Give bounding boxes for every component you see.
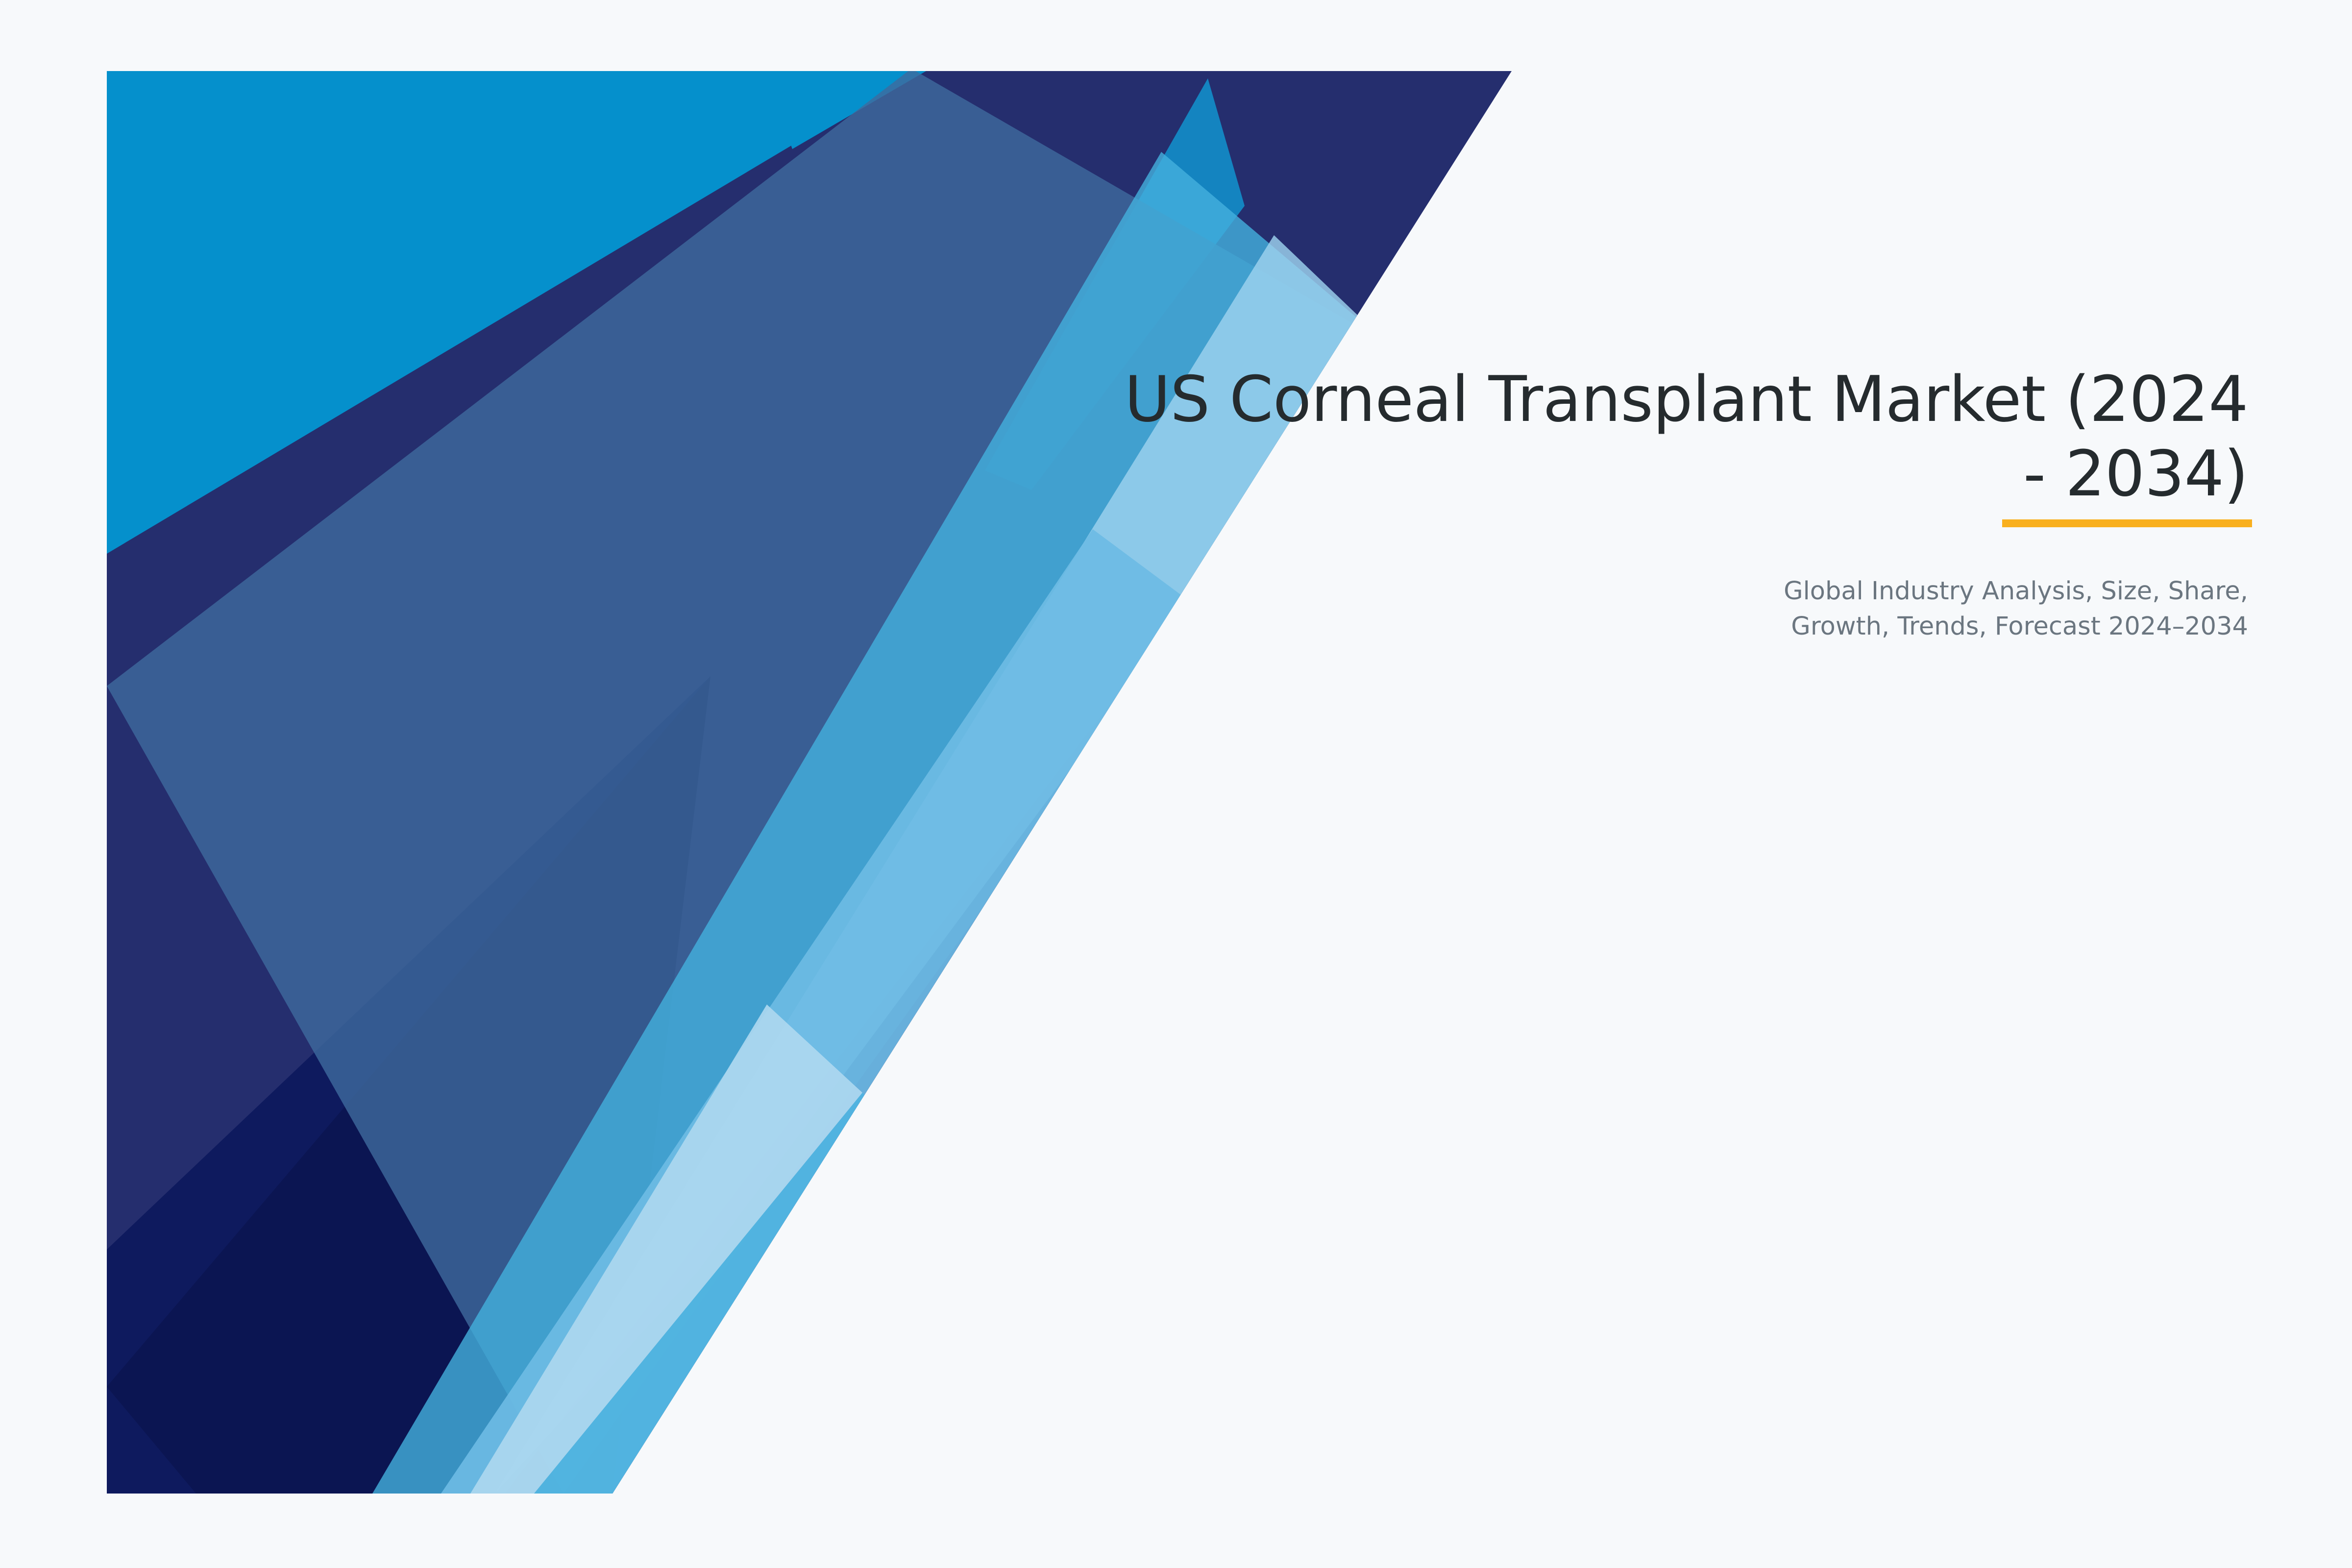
page-subtitle: Global Industry Analysis, Size, Share, G… xyxy=(1043,512,2248,645)
shape-light-blue-band xyxy=(441,529,1303,1494)
shape-dark-navy-sweep xyxy=(107,676,710,1494)
shape-deep-navy-wedge xyxy=(107,71,1274,1494)
shape-slate-parallelogram xyxy=(107,69,1387,1494)
shape-navy-field xyxy=(107,71,1512,1494)
shape-dark-navy-lower xyxy=(107,676,710,1494)
title-slide: US Corneal Transplant Market (2024 - 203… xyxy=(0,0,2352,1568)
shape-cyan-diagonal xyxy=(107,71,926,549)
page-title: US Corneal Transplant Market (2024 - 203… xyxy=(1043,363,2248,512)
title-accent-bar xyxy=(2002,519,2252,527)
title-wrapper: US Corneal Transplant Market (2024 - 203… xyxy=(1043,363,2248,512)
abstract-geometric-artwork xyxy=(0,0,2352,1568)
shape-sky-bottom-accent xyxy=(534,1093,980,1494)
shape-cyan-block xyxy=(107,71,916,554)
title-text-block: US Corneal Transplant Market (2024 - 203… xyxy=(1043,363,2248,644)
shape-sky-band xyxy=(372,152,1387,1494)
shape-pale-inner-v xyxy=(470,1004,862,1494)
